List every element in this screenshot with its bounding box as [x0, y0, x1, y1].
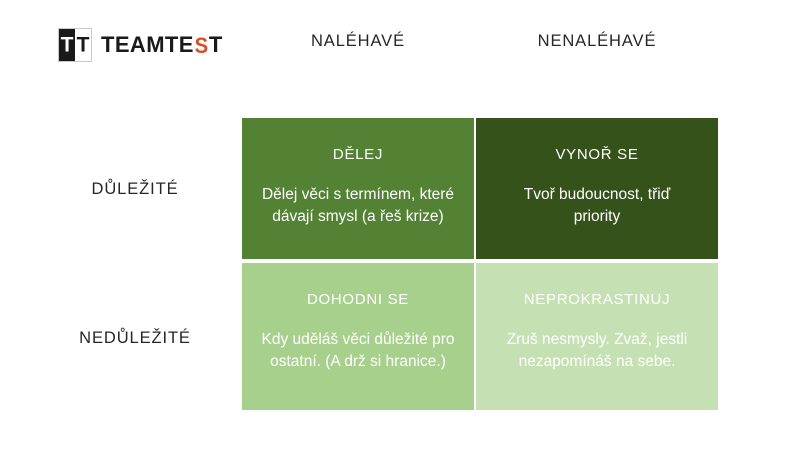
quadrant-negotiate-title: DOHODNI SE: [307, 291, 409, 309]
logo-letter-t-black: T: [77, 35, 90, 56]
quadrant-do-body: Dělej věci s termínem, které dávají smys…: [258, 184, 458, 228]
column-header-not-urgent: NENALÉHAVÉ: [476, 32, 718, 51]
quadrant-dont-procrastinate[interactable]: NEPROKRASTINUJ Zruš nesmysly. Zvaž, jest…: [476, 263, 718, 410]
logo-word-accent-s: S: [194, 33, 208, 59]
quadrant-emerge[interactable]: VYNOŘ SE Tvoř budoucnost, třiď priority: [476, 118, 718, 259]
logo-mark-icon: T T: [58, 28, 92, 62]
quadrant-dont-procrastinate-title: NEPROKRASTINUJ: [524, 291, 671, 309]
column-header-urgent: NALÉHAVÉ: [242, 32, 474, 51]
quadrant-emerge-body: Tvoř budoucnost, třiď priority: [507, 184, 687, 228]
quadrant-dont-procrastinate-body: Zruš nesmysly. Zvaž, jestli nezapomínáš …: [492, 329, 702, 373]
logo-word-part1: TEAMTE: [101, 32, 194, 58]
matrix-grid: DĚLEJ Dělej věci s termínem, které dávaj…: [242, 118, 718, 410]
logo-word-part2: T: [209, 32, 223, 58]
logo-mark-left-half: T: [59, 29, 75, 61]
quadrant-negotiate-body: Kdy uděláš věci důležité pro ostatní. (A…: [258, 329, 458, 373]
quadrant-negotiate[interactable]: DOHODNI SE Kdy uděláš věci důležité pro …: [242, 263, 474, 410]
logo-wordmark: TEAMTEST: [101, 32, 223, 58]
quadrant-do-title: DĚLEJ: [333, 146, 383, 164]
teamtest-logo: T T TEAMTEST: [58, 28, 223, 62]
quadrant-emerge-title: VYNOŘ SE: [555, 146, 638, 164]
logo-letter-t-white: T: [61, 35, 74, 56]
eisenhower-matrix-slide: T T TEAMTEST NALÉHAVÉ NENALÉHAVÉ DŮLEŽIT…: [0, 0, 800, 450]
logo-mark-right-half: T: [75, 29, 91, 61]
row-header-important: DŮLEŽITÉ: [40, 180, 230, 199]
quadrant-do[interactable]: DĚLEJ Dělej věci s termínem, které dávaj…: [242, 118, 474, 259]
row-header-not-important: NEDŮLEŽITÉ: [40, 329, 230, 348]
